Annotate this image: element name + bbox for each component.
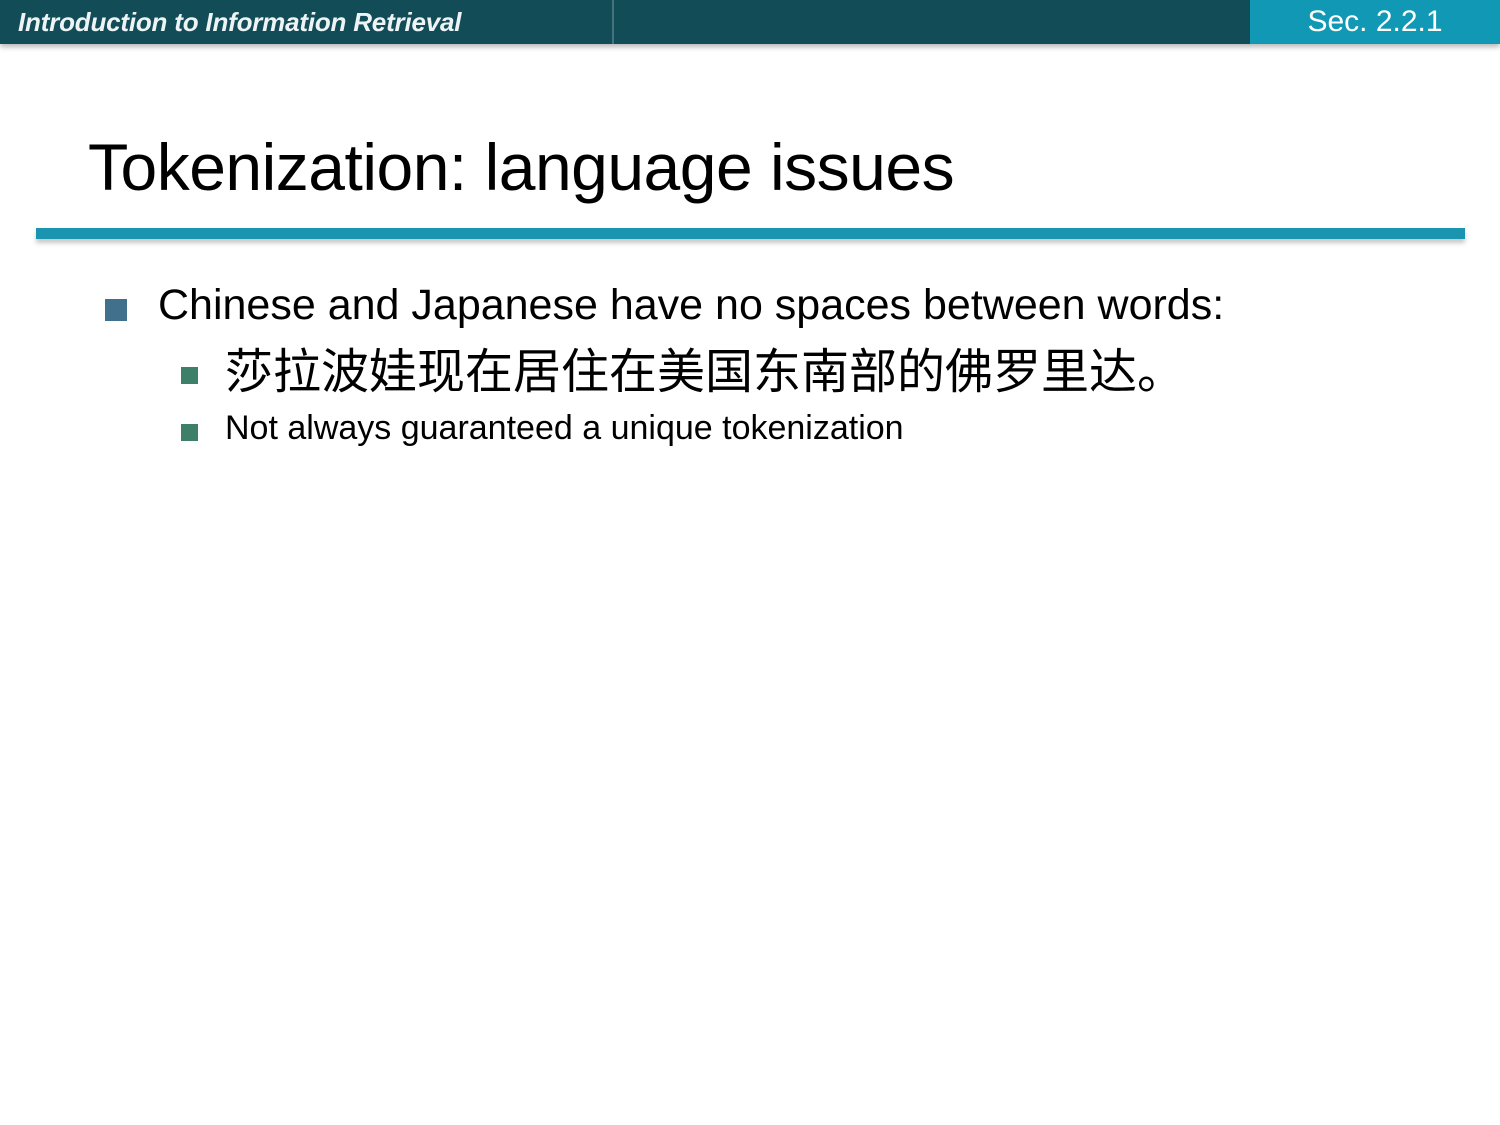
course-title: Introduction to Information Retrieval (18, 0, 461, 44)
bullet-square-icon (181, 367, 198, 384)
list-item-label: Not always guaranteed a unique tokenizat… (225, 409, 904, 447)
slide-body: Chinese and Japanese have no spaces betw… (0, 280, 1500, 449)
header-divider (612, 0, 614, 44)
list-item-label: Chinese and Japanese have no spaces betw… (158, 281, 1224, 329)
list-item: Not always guaranteed a unique tokenizat… (178, 408, 1375, 449)
list-item: Chinese and Japanese have no spaces betw… (100, 280, 1338, 331)
title-underline-rule (36, 228, 1465, 239)
section-badge: Sec. 2.2.1 (1250, 0, 1500, 44)
page-title: Tokenization: language issues (88, 127, 1428, 207)
slide-header-bar: Introduction to Information Retrieval Se… (0, 0, 1500, 44)
list-item-label: 莎拉波娃现在居住在美国东南部的佛罗里达。 (225, 346, 1185, 399)
bullet-square-icon (105, 299, 127, 321)
bullet-square-icon (181, 424, 198, 441)
section-badge-label: Sec. 2.2.1 (1250, 0, 1500, 44)
spacer (0, 400, 1500, 408)
list-item: 莎拉波娃现在居住在美国东南部的佛罗里达。 (178, 345, 1375, 400)
spacer (0, 331, 1500, 345)
